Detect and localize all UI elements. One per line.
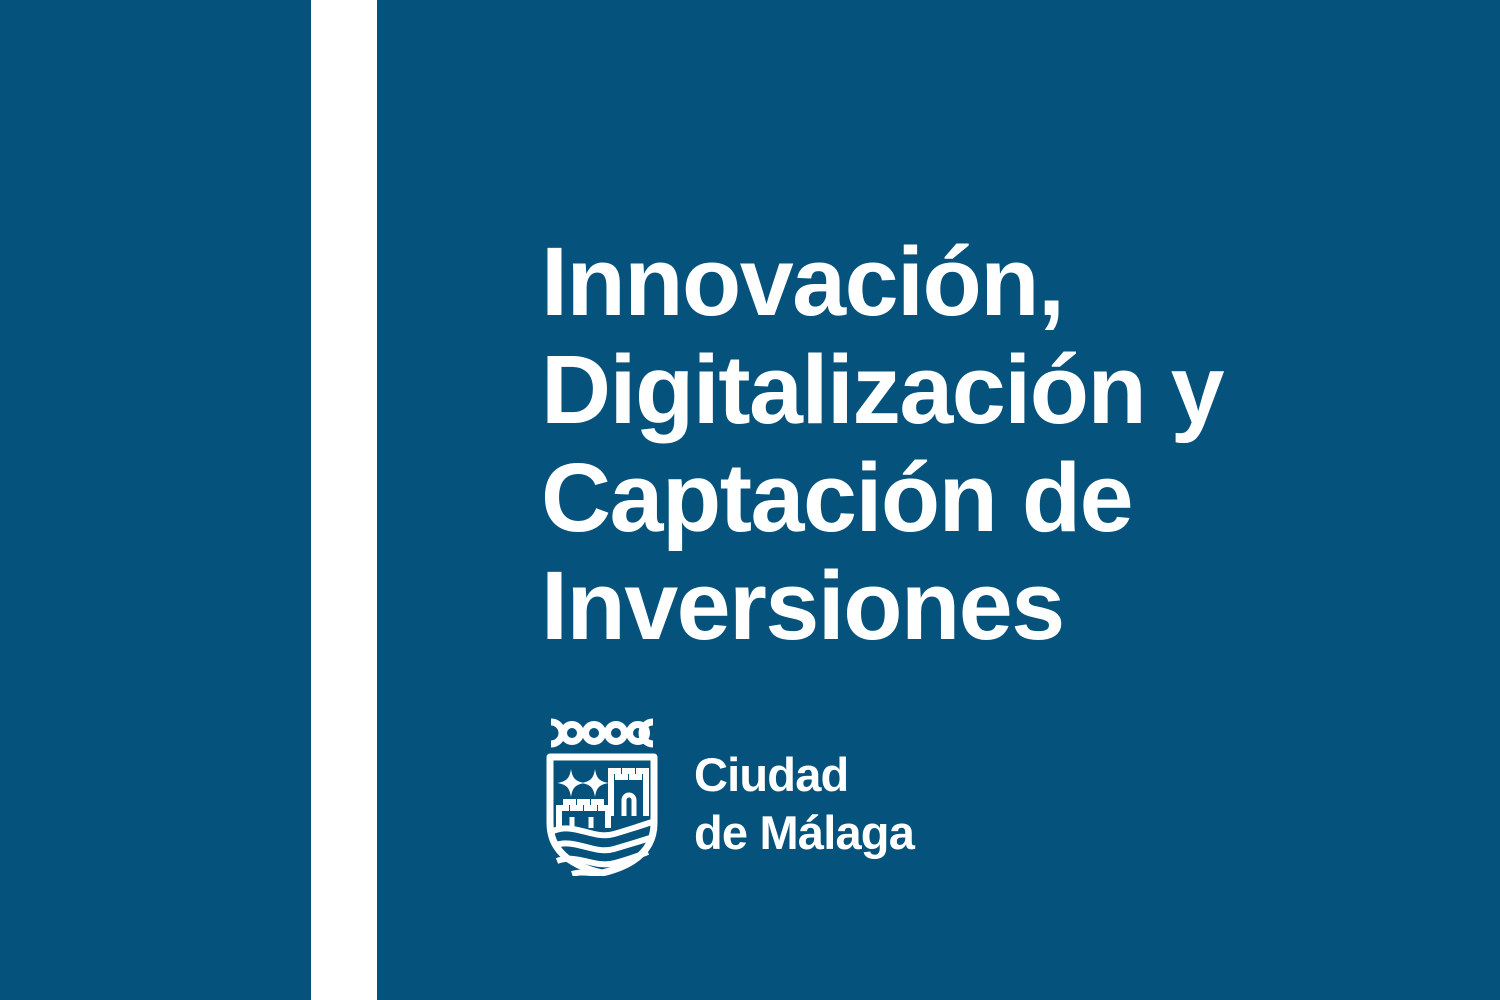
wordmark-line-1: Ciudad (694, 746, 914, 804)
malaga-shield-crest-icon (541, 716, 663, 876)
accent-stripe (311, 0, 377, 1000)
title-line-4: Inversiones (541, 552, 1321, 660)
brand-wordmark: Ciudad de Málaga (694, 746, 914, 862)
page-title: Innovación, Digitalización y Captación d… (541, 228, 1321, 660)
brand-logo-lockup: Ciudad de Málaga (541, 716, 914, 876)
slide-canvas: Innovación, Digitalización y Captación d… (0, 0, 1500, 1000)
title-line-2: Digitalización y (541, 336, 1321, 444)
wordmark-line-2: de Málaga (694, 804, 914, 862)
title-line-1: Innovación, (541, 228, 1321, 336)
title-line-3: Captación de (541, 444, 1321, 552)
